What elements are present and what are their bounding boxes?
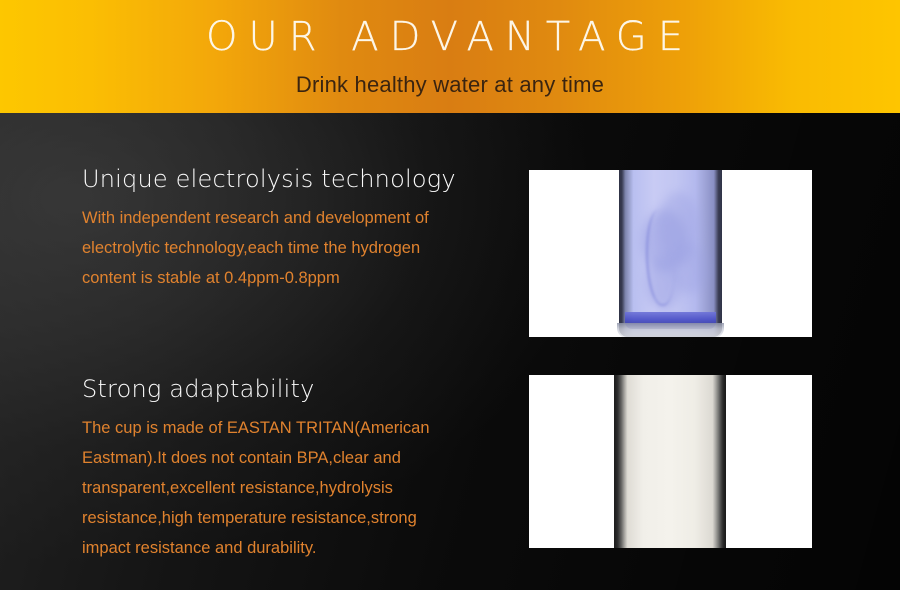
feature-description-line: resistance,high temperature resistance,s… (82, 503, 512, 533)
product-photo-blue-water (529, 170, 812, 337)
blue-water-glass-icon (619, 170, 722, 337)
glass-rim-shading (619, 170, 722, 337)
banner-title: OUR ADVANTAGE (0, 14, 900, 60)
banner-subtitle: Drink healthy water at any time (0, 72, 900, 98)
feature-heading: Unique electrolysis technology (82, 165, 512, 194)
header-banner: OUR ADVANTAGE Drink healthy water at any… (0, 0, 900, 113)
product-photo-clear-glass (529, 375, 812, 548)
feature-description: The cup is made of EASTAN TRITAN(America… (82, 413, 512, 563)
feature-block-electrolysis: Unique electrolysis technology With inde… (82, 165, 512, 293)
feature-description-line: electrolytic technology,each time the hy… (82, 233, 512, 263)
feature-description-line: transparent,excellent resistance,hydroly… (82, 473, 512, 503)
clear-glass-icon (614, 375, 726, 548)
feature-heading: Strong adaptability (82, 375, 512, 404)
feature-block-adaptability: Strong adaptability The cup is made of E… (82, 375, 512, 563)
feature-description-line: With independent research and developmen… (82, 203, 512, 233)
feature-description: With independent research and developmen… (82, 203, 512, 293)
glass-rim-shading (614, 375, 726, 548)
feature-description-line: Eastman).It does not contain BPA,clear a… (82, 443, 512, 473)
feature-description-line: content is stable at 0.4ppm-0.8ppm (82, 263, 512, 293)
advantage-infographic: OUR ADVANTAGE Drink healthy water at any… (0, 0, 900, 590)
feature-description-line: The cup is made of EASTAN TRITAN(America… (82, 413, 512, 443)
feature-description-line: impact resistance and durability. (82, 533, 512, 563)
glass-base-reflection (617, 323, 724, 337)
